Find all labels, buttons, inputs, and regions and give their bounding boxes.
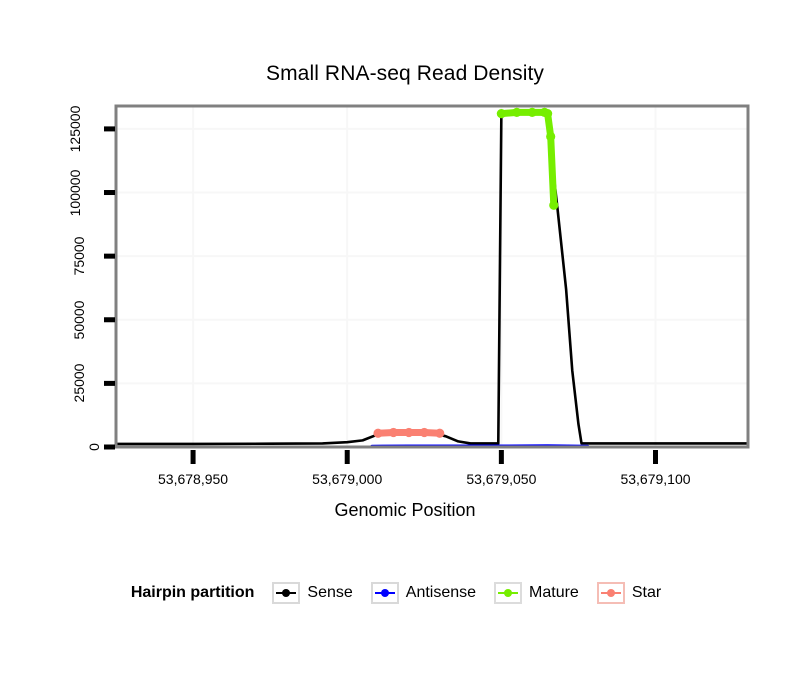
data-point-star [404,428,413,437]
legend-label-antisense: Antisense [406,584,476,602]
data-point-star [389,428,398,437]
y-tick-label: 125000 [51,119,98,139]
data-point-mature [546,132,555,141]
legend-key-mature [494,582,522,604]
panel-background [116,106,748,447]
y-tick-label: 0 [90,437,98,457]
y-tick-label-text: 75000 [69,237,89,276]
y-tick-label-text: 100000 [65,169,85,216]
legend-label-sense: Sense [307,584,352,602]
x-tick-label: 53,679,000 [277,471,417,487]
legend-item-antisense[interactable]: Antisense [371,582,490,604]
x-tick-label: 53,679,100 [586,471,726,487]
legend-key-dot [607,589,615,597]
data-point-star [373,429,382,438]
legend-item-star[interactable]: Star [597,582,675,604]
legend-key-sense [272,582,300,604]
legend-key-dot [504,589,512,597]
data-point-mature [512,108,521,117]
legend-key-dot [381,589,389,597]
data-point-mature [528,108,537,117]
y-tick-label: 25000 [59,373,98,393]
data-point-mature [497,109,506,118]
data-point-star [420,428,429,437]
data-point-star [435,429,444,438]
y-tick-label-text: 125000 [65,106,85,153]
legend-item-mature[interactable]: Mature [494,582,593,604]
legend-title: Hairpin partition [131,584,255,602]
y-tick-label-text: 25000 [69,364,89,403]
legend: Hairpin partition SenseAntisenseMatureSt… [0,582,810,604]
y-tick-label-text: 0 [84,443,104,451]
data-point-mature [549,201,558,210]
x-tick-label: 53,678,950 [123,471,263,487]
y-tick-label-text: 50000 [69,300,89,339]
y-tick-label: 75000 [59,246,98,266]
legend-key-star [597,582,625,604]
chart-root: Small RNA-seq Read Density Total Reads G… [0,0,810,690]
legend-item-sense[interactable]: Sense [272,582,366,604]
legend-items: SenseAntisenseMatureStar [272,582,679,604]
legend-label-mature: Mature [529,584,579,602]
x-tick-label: 53,679,050 [431,471,571,487]
legend-key-dot [282,589,290,597]
y-tick-label: 100000 [51,183,98,203]
data-point-mature [543,109,552,118]
legend-label-star: Star [632,584,661,602]
legend-key-antisense [371,582,399,604]
y-tick-label: 50000 [59,310,98,330]
